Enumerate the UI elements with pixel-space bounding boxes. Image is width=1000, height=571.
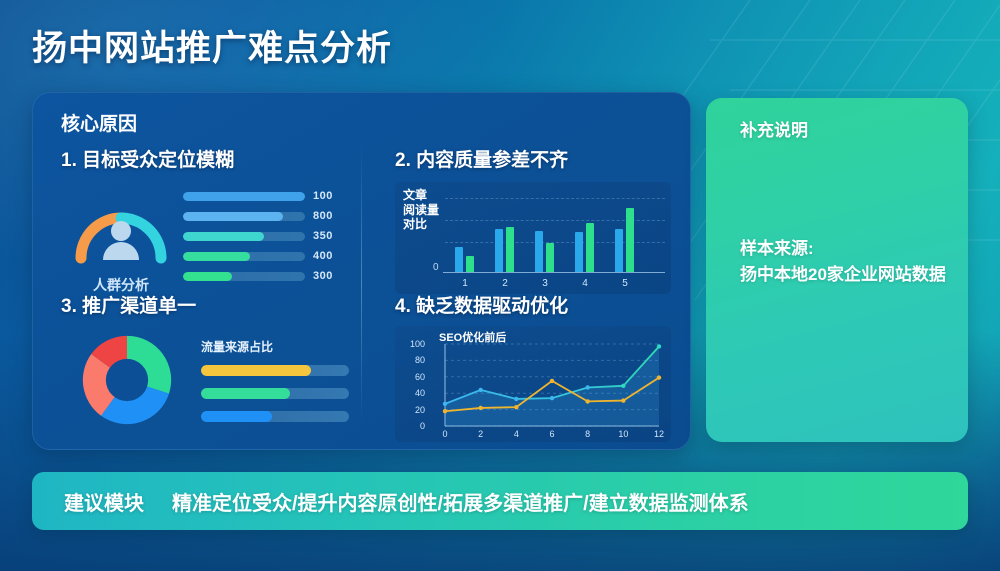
metric-bar-track [183, 272, 305, 281]
chart4-plot [427, 340, 665, 438]
bar-group [615, 208, 634, 272]
data-point [550, 379, 554, 383]
y-tick-label: 0 [399, 421, 425, 431]
x-tick-label: 1 [462, 278, 468, 289]
y-tick-label: 20 [399, 405, 425, 415]
metric-bar-row: 300 [183, 270, 351, 282]
metric-bar-value: 100 [313, 190, 333, 202]
gauge-icon [67, 184, 175, 266]
y-tick-label: 80 [399, 355, 425, 365]
data-point [585, 385, 589, 389]
traffic-bar-track [201, 365, 349, 376]
caption-line-3: 对比 [403, 217, 439, 232]
section-4-title: 4. 缺乏数据驱动优化 [395, 291, 671, 318]
card-vertical-divider [361, 145, 362, 423]
data-point [657, 375, 661, 379]
audience-gauge: 人群分析 [67, 184, 175, 295]
bar [546, 243, 554, 272]
section-4: 4. 缺乏数据驱动优化 SEO优化前后 020406080100 0246810… [395, 291, 671, 442]
metric-bar-row: 800 [183, 210, 351, 222]
recommendation-bar: 建议模块 精准定位受众/提升内容原创性/拓展多渠道推广/建立数据监测体系 [32, 472, 968, 530]
bar-group [535, 231, 554, 272]
section-2-title: 2. 内容质量参差不齐 [395, 145, 671, 172]
recommendation-tag: 建议模块 [64, 487, 144, 516]
section-1-title: 1. 目标受众定位模糊 [61, 145, 353, 172]
data-point [550, 396, 554, 400]
metric-bar-fill [183, 212, 283, 221]
section-2: 2. 内容质量参差不齐 文章 阅读量 对比 0 12345 [395, 145, 671, 294]
metric-bar-track [183, 232, 305, 241]
section-1: 1. 目标受众定位模糊 人群分析 100800350400300 [61, 145, 353, 304]
metric-bar-fill [183, 192, 305, 201]
data-point [585, 399, 589, 403]
bar [535, 231, 543, 272]
slide-canvas: 扬中网站推广难点分析 核心原因 1. 目标受众定位模糊 人群分析 1008003… [0, 0, 1000, 571]
chart2-zero-label: 0 [433, 262, 439, 273]
bar [575, 232, 583, 272]
data-point [514, 397, 518, 401]
traffic-source-bars: 流量来源占比 [201, 338, 351, 434]
data-point [478, 406, 482, 410]
data-point [621, 384, 625, 388]
traffic-bar-fill [201, 365, 311, 376]
metric-bar-row: 350 [183, 230, 351, 242]
caption-line-2: 阅读量 [403, 203, 439, 218]
bar [495, 229, 503, 272]
core-reasons-card: 核心原因 1. 目标受众定位模糊 人群分析 100800350400300 [32, 92, 691, 450]
traffic-bar-track [201, 411, 349, 422]
x-tick-label: 3 [542, 278, 548, 289]
chart-caption: 文章 阅读量 对比 [403, 188, 439, 232]
metric-bar-value: 300 [313, 270, 333, 282]
bar [466, 256, 474, 272]
x-tick-label: 2 [502, 278, 508, 289]
x-tick-label: 4 [582, 278, 588, 289]
section-1-bar-list: 100800350400300 [183, 190, 351, 290]
metric-bar-value: 350 [313, 230, 333, 242]
metric-bar-track [183, 212, 305, 221]
metric-bar-value: 400 [313, 250, 333, 262]
data-point [657, 344, 661, 348]
bar-group [455, 247, 474, 272]
traffic-bar-fill [201, 388, 290, 399]
y-tick-label: 40 [399, 388, 425, 398]
caption-line-1: 文章 [403, 188, 439, 203]
supplementary-body: 样本来源: 扬中本地20家企业网站数据 [740, 236, 950, 288]
metric-bar-value: 800 [313, 210, 333, 222]
bar-group [575, 223, 594, 272]
bar-group [495, 227, 514, 272]
y-tick-label: 100 [399, 339, 425, 349]
bar [615, 229, 623, 272]
supplementary-panel: 补充说明 样本来源: 扬中本地20家企业网站数据 [706, 98, 968, 442]
metric-bar-row: 400 [183, 250, 351, 262]
metric-bar-track [183, 192, 305, 201]
bar [626, 208, 634, 272]
metric-bar-fill [183, 232, 264, 241]
bar [455, 247, 463, 272]
supplementary-header: 补充说明 [740, 116, 808, 141]
metric-bar-fill [183, 252, 250, 261]
data-point [514, 405, 518, 409]
data-point [478, 388, 482, 392]
data-point [443, 409, 447, 413]
bar [506, 227, 514, 272]
x-tick-label: 5 [622, 278, 628, 289]
data-point [443, 402, 447, 406]
seo-line-chart: SEO优化前后 020406080100 024681012 [395, 326, 671, 442]
traffic-bar-fill [201, 411, 272, 422]
metric-bar-fill [183, 272, 232, 281]
section-3: 3. 推广渠道单一 流量来源占比 [61, 291, 353, 436]
traffic-source-caption: 流量来源占比 [201, 338, 351, 355]
area-fill [445, 346, 659, 426]
reading-volume-chart: 文章 阅读量 对比 0 12345 [395, 182, 671, 294]
data-point [621, 398, 625, 402]
core-reasons-header: 核心原因 [61, 109, 137, 136]
chart2-x-axis [443, 272, 665, 273]
page-title: 扬中网站推广难点分析 [32, 20, 392, 71]
traffic-bar-track [201, 388, 349, 399]
recommendation-text: 精准定位受众/提升内容原创性/拓展多渠道推广/建立数据监测体系 [172, 487, 749, 516]
metric-bar-track [183, 252, 305, 261]
section-3-title: 3. 推广渠道单一 [61, 291, 353, 318]
chart2-bars [447, 202, 663, 272]
metric-bar-row: 100 [183, 190, 351, 202]
bar [586, 223, 594, 272]
traffic-source-donut [79, 332, 175, 428]
y-tick-label: 60 [399, 372, 425, 382]
